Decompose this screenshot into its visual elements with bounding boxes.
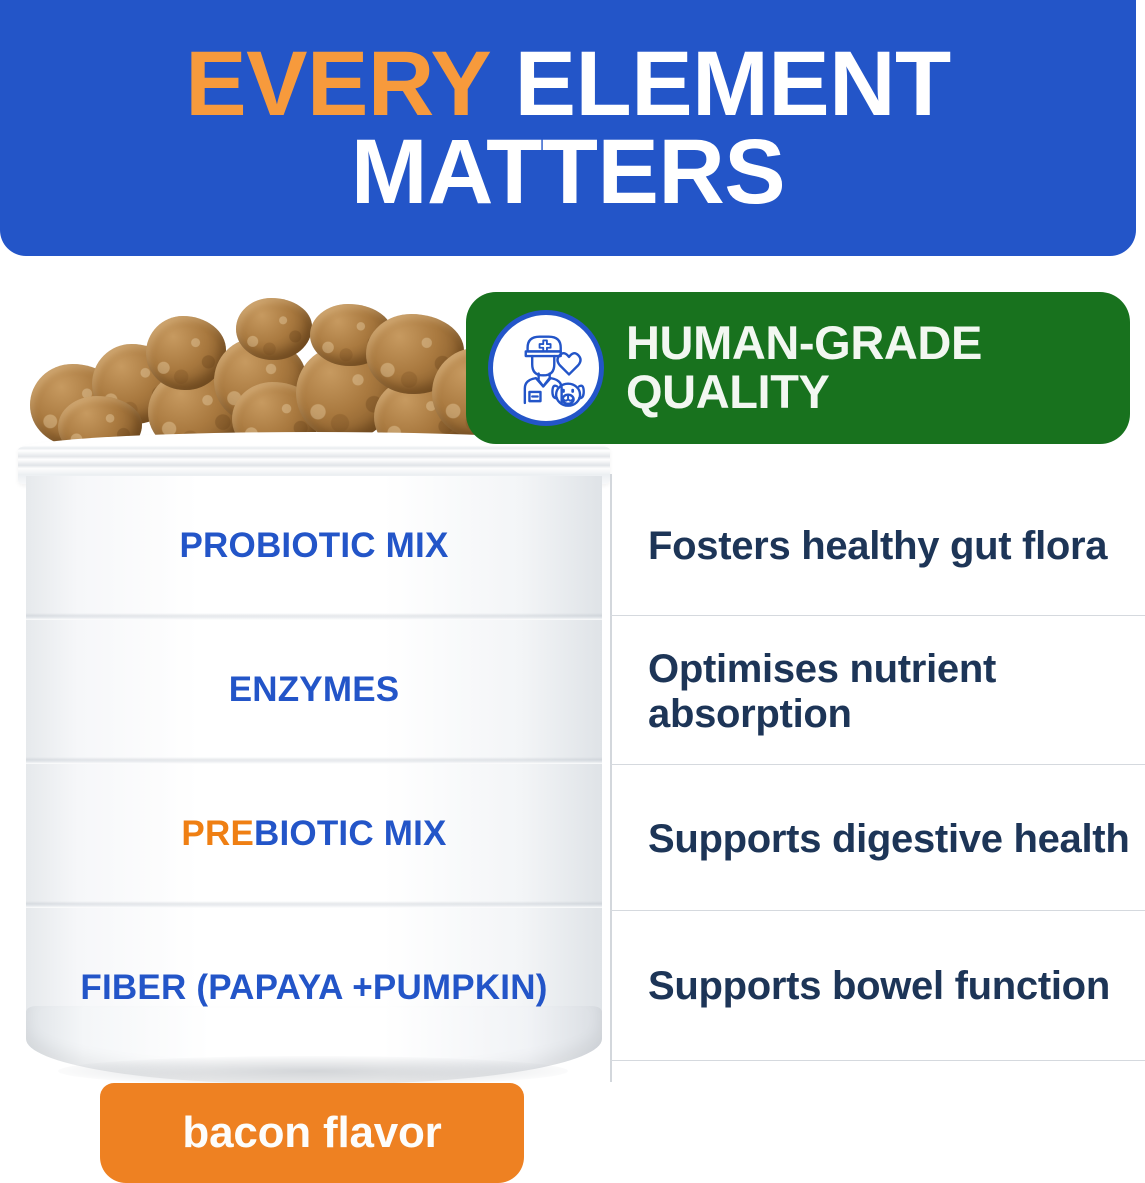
benefit-divider [610,910,1145,911]
product-infographic: EVERY ELEMENT MATTERS PROBIOTIC MIX [0,0,1145,1183]
benefit-divider [610,615,1145,616]
header-banner: EVERY ELEMENT MATTERS [0,0,1136,256]
title-line-two: MATTERS [14,128,1122,216]
benefit-divider [610,1060,1145,1061]
jar-segment-divider [26,613,602,620]
badge-line-2: QUALITY [626,368,982,417]
vet-with-dog-icon [488,310,604,426]
benefit-list: Fosters healthy gut flora Optimises nutr… [610,474,1145,1082]
ingredient-list: PROBIOTIC MIX ENZYMES PREBIOTIC MIX FIBE… [18,476,610,1082]
page-title: EVERY ELEMENT MATTERS [0,40,1136,217]
flavor-tab: bacon flavor [100,1083,524,1183]
title-rest-word: ELEMENT [490,33,951,135]
benefit-text: Supports bowel function [648,964,1110,1009]
benefit-row-gut-flora: Fosters healthy gut flora [610,476,1145,616]
prebiotic-prefix: PRE [181,814,254,853]
benefit-text: Supports digestive health [648,817,1129,862]
ingredient-row-fiber: FIBER (PAPAYA +PUMPKIN) [18,908,610,1068]
benefit-text: Fosters healthy gut flora [648,524,1107,569]
ingredient-row-prebiotic: PREBIOTIC MIX [18,764,610,904]
jar-segment-divider [26,901,602,908]
ingredient-label: PREBIOTIC MIX [181,815,446,852]
ingredient-label: PROBIOTIC MIX [180,527,449,564]
ingredient-row-enzymes: ENZYMES [18,620,610,760]
ingredient-label: ENZYMES [229,671,400,708]
flavor-label: bacon flavor [182,1108,441,1158]
benefit-row-nutrient-absorption: Optimises nutrient absorption [610,620,1145,764]
jar-segment-divider [26,757,602,764]
human-grade-quality-badge: HUMAN-GRADE QUALITY [466,292,1130,444]
benefit-row-digestive-health: Supports digestive health [610,768,1145,910]
badge-label: HUMAN-GRADE QUALITY [626,319,982,417]
vet-with-dog-glyph [500,322,592,414]
ingredient-label: FIBER (PAPAYA +PUMPKIN) [80,969,547,1006]
ingredient-row-probiotic: PROBIOTIC MIX [18,476,610,616]
prebiotic-rest: BIOTIC MIX [254,814,447,853]
benefit-divider [610,764,1145,765]
title-accent-word: EVERY [185,33,489,135]
benefit-text: Optimises nutrient absorption [648,647,1145,737]
badge-line-1: HUMAN-GRADE [626,319,982,368]
benefit-row-bowel-function: Supports bowel function [610,914,1145,1058]
